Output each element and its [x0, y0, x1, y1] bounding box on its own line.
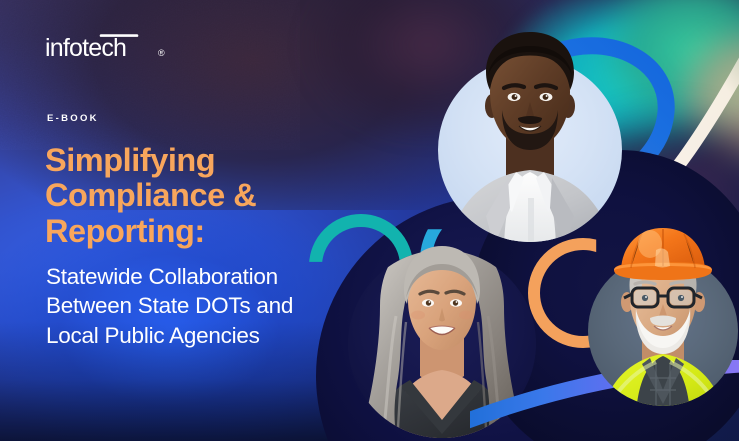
- registered-mark: ®: [158, 48, 165, 58]
- cover-text-block: infotech ® E-BOOK Simplifying Compliance…: [45, 0, 375, 441]
- ebook-cover: infotech ® E-BOOK Simplifying Compliance…: [0, 0, 739, 441]
- page-title: Simplifying Compliance & Reporting:: [45, 143, 375, 249]
- page-subtitle: Statewide Collaboration Between State DO…: [46, 262, 376, 350]
- infotech-logo[interactable]: infotech ®: [45, 30, 167, 64]
- subtitle-line-1: Statewide Collaboration: [46, 262, 376, 291]
- title-line-1: Simplifying: [45, 143, 375, 178]
- title-line-2: Compliance &: [45, 178, 375, 213]
- subtitle-line-2: Between State DOTs and: [46, 291, 376, 320]
- infotech-logo-mark: infotech ®: [45, 30, 167, 64]
- title-line-3: Reporting:: [45, 214, 375, 249]
- infotech-wordmark: infotech: [45, 34, 126, 62]
- ebook-eyebrow-label: E-BOOK: [47, 113, 99, 124]
- portrait-worker-illustration: [580, 208, 739, 414]
- portrait-construction-worker: [588, 256, 738, 406]
- subtitle-line-3: Local Public Agencies: [46, 321, 376, 350]
